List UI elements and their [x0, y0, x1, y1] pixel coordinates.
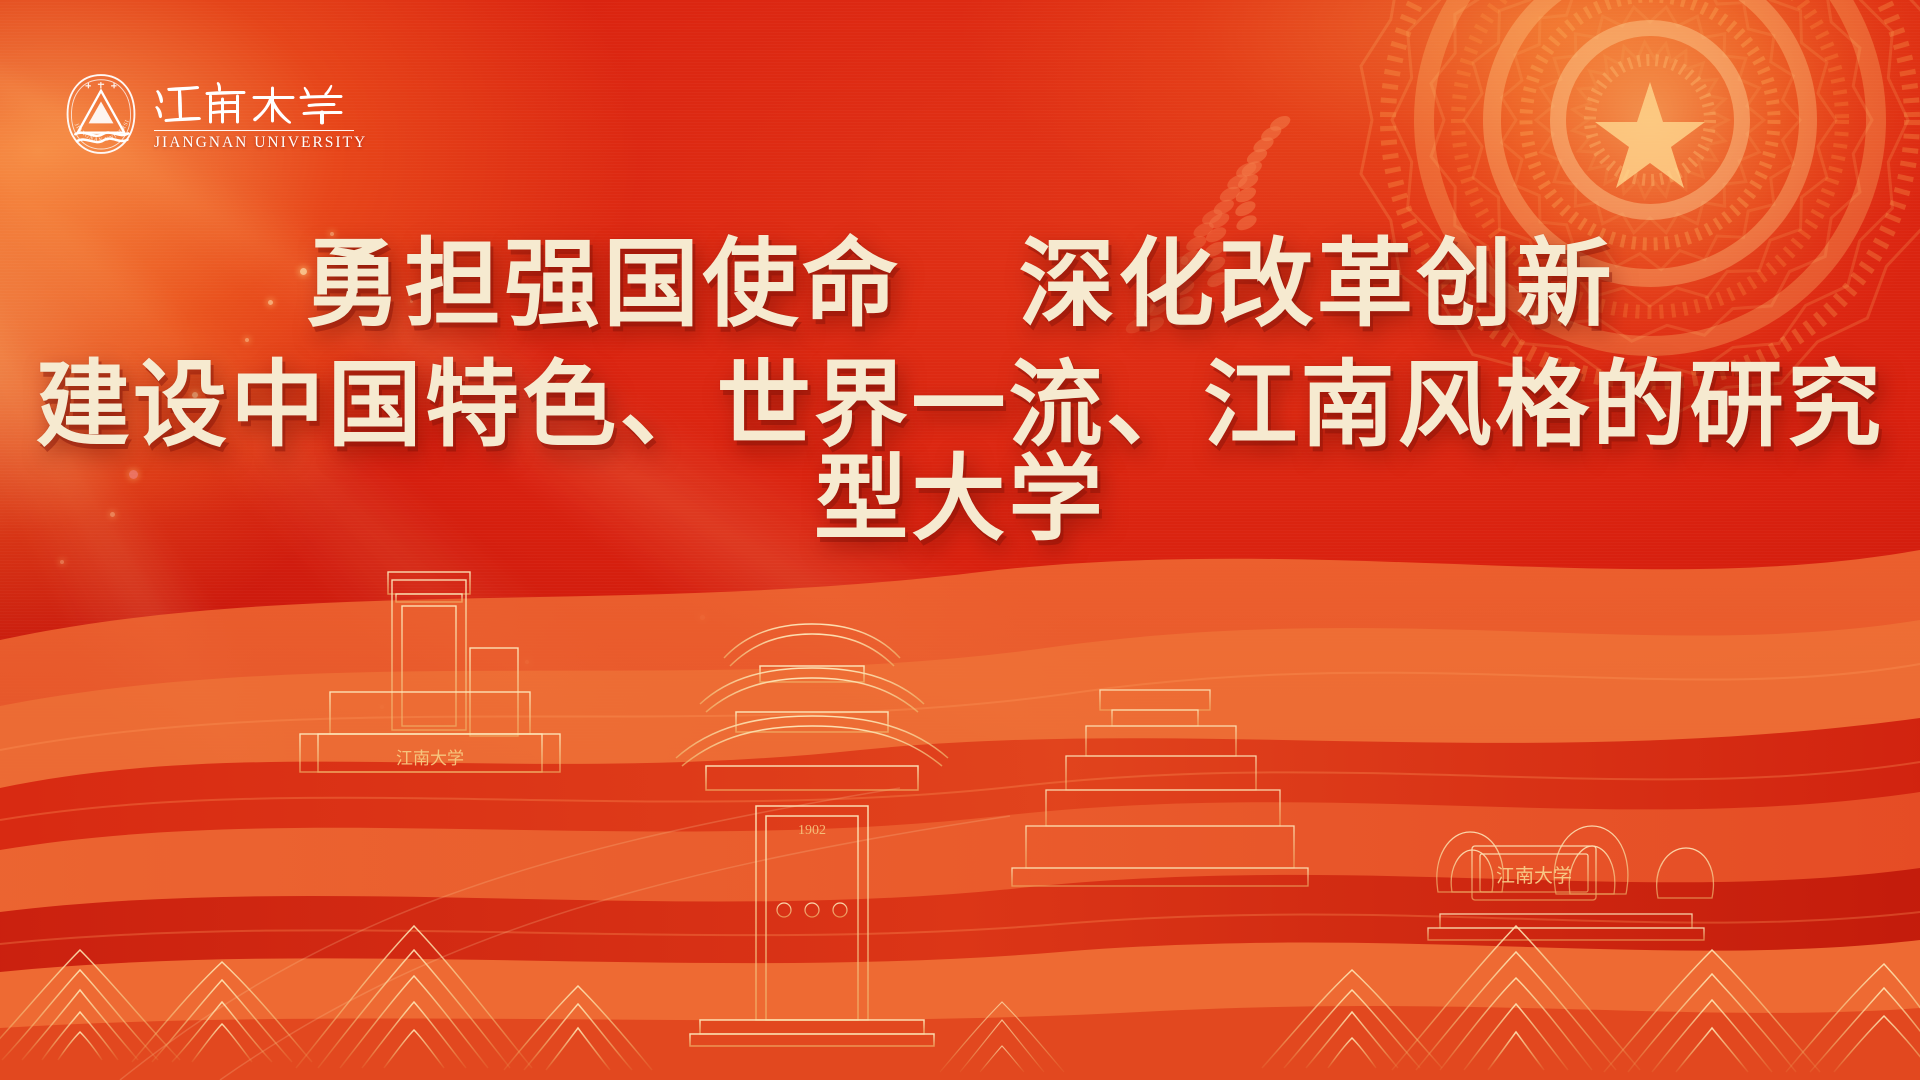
wordmark-chinese-calligraphy: [154, 76, 354, 128]
university-logo: JIANGNAN UNIVERSITY: [62, 72, 354, 156]
university-emblem-icon: JIANGNAN UNIVERSITY: [62, 72, 140, 156]
headline-line-1: 勇担强国使命 深化改革创新: [0, 236, 1920, 332]
headline-line-1-part-b: 深化改革创新: [1019, 227, 1615, 340]
headline-line-2: 建设中国特色、世界一流、江南风格的研究型大学: [0, 358, 1920, 546]
wordmark-english-label: JIANGNAN UNIVERSITY: [154, 130, 354, 152]
university-wordmark: JIANGNAN UNIVERSITY: [154, 76, 354, 152]
banner-canvas: JIANGNAN UNIVERSITY: [0, 0, 1920, 1080]
banner-headline: 勇担强国使命 深化改革创新 建设中国特色、世界一流、江南风格的研究型大学: [0, 236, 1920, 546]
landscape-hills: [0, 520, 1920, 1080]
headline-line-1-part-a: 勇担强国使命: [305, 227, 901, 340]
